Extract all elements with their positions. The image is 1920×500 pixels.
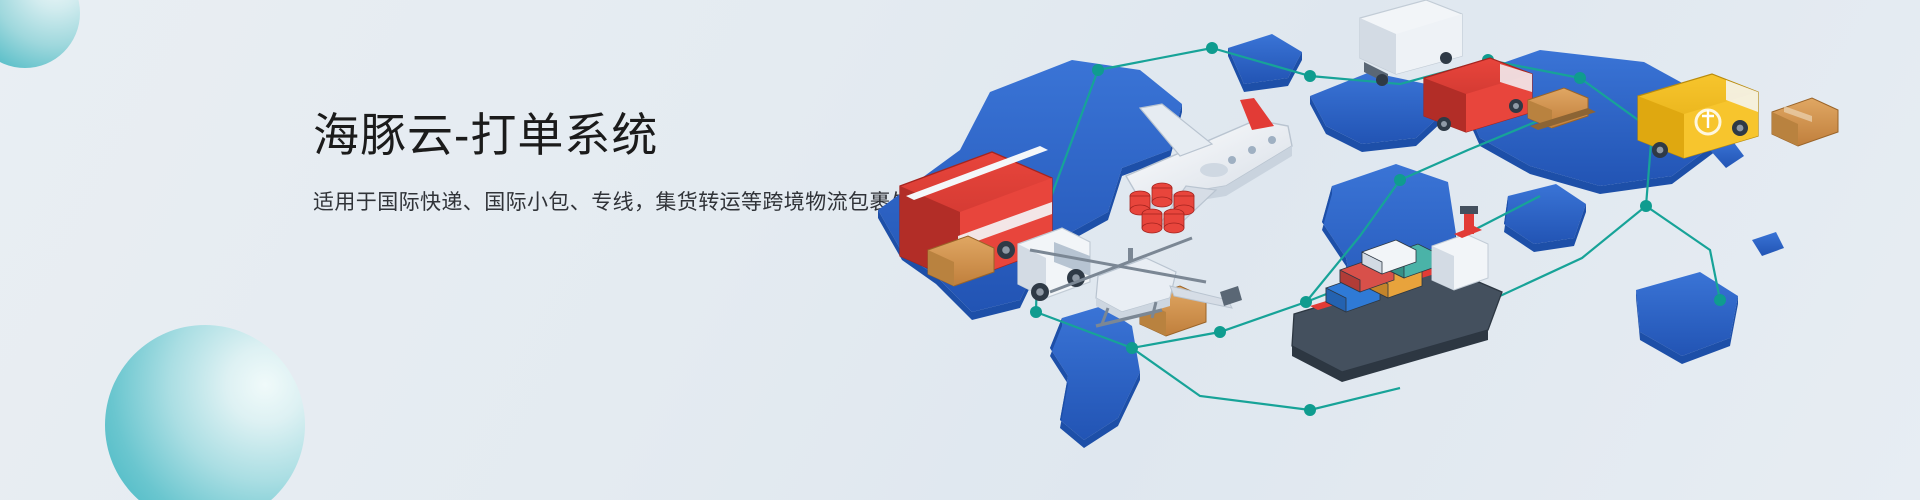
isometric-world-logistics-map (840, 0, 1920, 500)
teal-circle-bottom-left (105, 325, 305, 500)
teal-circle-top-left (0, 0, 80, 68)
parcel-boxes-icon (1772, 98, 1838, 146)
hero-banner: 海豚云-打单系统 适用于国际快递、国际小包、专线，集货转运等跨境物流包裹处理 (0, 0, 1920, 500)
